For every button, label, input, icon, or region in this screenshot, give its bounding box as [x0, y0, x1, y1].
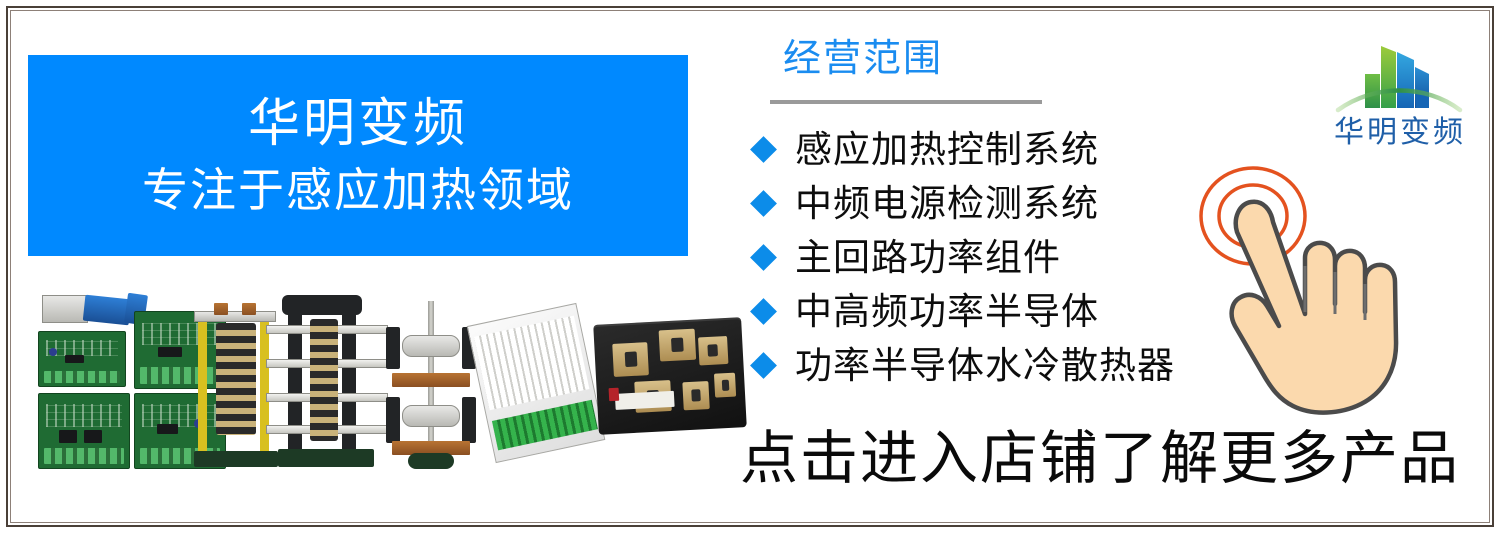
product-igbt-power-module [593, 317, 747, 435]
product-photo-strip [28, 287, 728, 477]
logo-wordmark: 华明变频 [1320, 118, 1480, 148]
diamond-bullet-icon [750, 244, 777, 271]
scope-item-label: 中频电源检测系统 [795, 185, 1099, 222]
left-column: 华明变频 专注于感应加热领域 [28, 55, 690, 485]
diamond-bullet-icon [750, 352, 777, 379]
company-name: 华明变频 [248, 92, 468, 156]
promo-banner[interactable]: 华明变频 专注于感应加热领域 [0, 0, 1500, 533]
scope-item-label: 感应加热控制系统 [795, 131, 1099, 168]
cta-text[interactable]: 点击进入店铺了解更多产品 [740, 430, 1480, 488]
scope-heading: 经营范围 [783, 40, 943, 78]
company-tagline: 专注于感应加热领域 [142, 162, 574, 219]
scope-item-label: 中高频功率半导体 [795, 293, 1099, 330]
scope-heading-divider [770, 100, 1042, 104]
diamond-bullet-icon [750, 190, 777, 217]
diamond-bullet-icon [750, 136, 777, 163]
right-column: 经营范围 感应加热控制系统 中频电源检测系统 主回路功率组件 中高频功率半导体 … [740, 34, 1480, 504]
hero-blue-panel: 华明变频 专注于感应加热领域 [28, 55, 688, 256]
scope-item-label: 主回路功率组件 [795, 239, 1061, 276]
product-water-cooled-heatsink [467, 303, 606, 463]
diamond-bullet-icon [750, 298, 777, 325]
product-busbar-capacitor-assembly [264, 289, 392, 473]
scope-item-label: 功率半导体水冷散热器 [795, 347, 1175, 384]
building-skyline-icon [1334, 34, 1464, 122]
pointing-hand-tap-icon[interactable] [1175, 154, 1440, 429]
